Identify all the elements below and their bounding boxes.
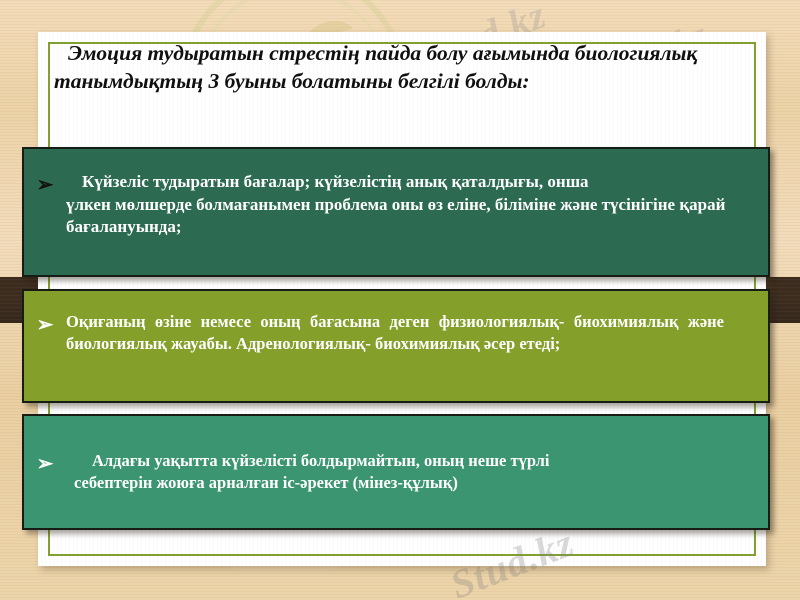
content-line: биохимиялық әсер етеді;	[375, 334, 560, 353]
content-box-3: ➢ Алдағы уақытта күйзелісті болдырмайтын…	[22, 414, 770, 530]
content-line: Алдағы уақытта күйзелісті болдырмайтын, …	[66, 450, 710, 472]
arrow-bullet-icon: ➢	[24, 450, 66, 477]
content-line: Күйзеліс тудыратын бағалар; күйзелістің …	[66, 171, 728, 194]
content-box-2: ➢ Оқиғаның өзіне немесе оның бағасына де…	[22, 289, 770, 403]
content-box-2-text: Оқиғаның өзіне немесе оның бағасына деге…	[66, 311, 750, 355]
content-box-3-text: Алдағы уақытта күйзелісті болдырмайтын, …	[66, 450, 750, 494]
content-line: Оқиғаның өзіне немесе оның бағасына деге…	[66, 312, 564, 331]
content-line: үлкен мөлшерде болмағанымен проблема оны…	[66, 195, 597, 214]
arrow-bullet-icon: ➢	[24, 171, 66, 198]
content-line: себептерін жоюға арналған іс-әрекет (мін…	[66, 472, 710, 494]
presentation-slide: Stud.kz - Stud.kz Stud.kz Эмоция тудырат…	[0, 0, 800, 600]
content-box-1: ➢ Күйзеліс тудыратын бағалар; күйзелісті…	[22, 147, 770, 277]
slide-title: Эмоция тудыратын стрестің пайда болу ағы…	[54, 40, 734, 96]
content-box-1-text: Күйзеліс тудыратын бағалар; күйзелістің …	[66, 171, 750, 239]
arrow-bullet-icon: ➢	[24, 311, 66, 338]
